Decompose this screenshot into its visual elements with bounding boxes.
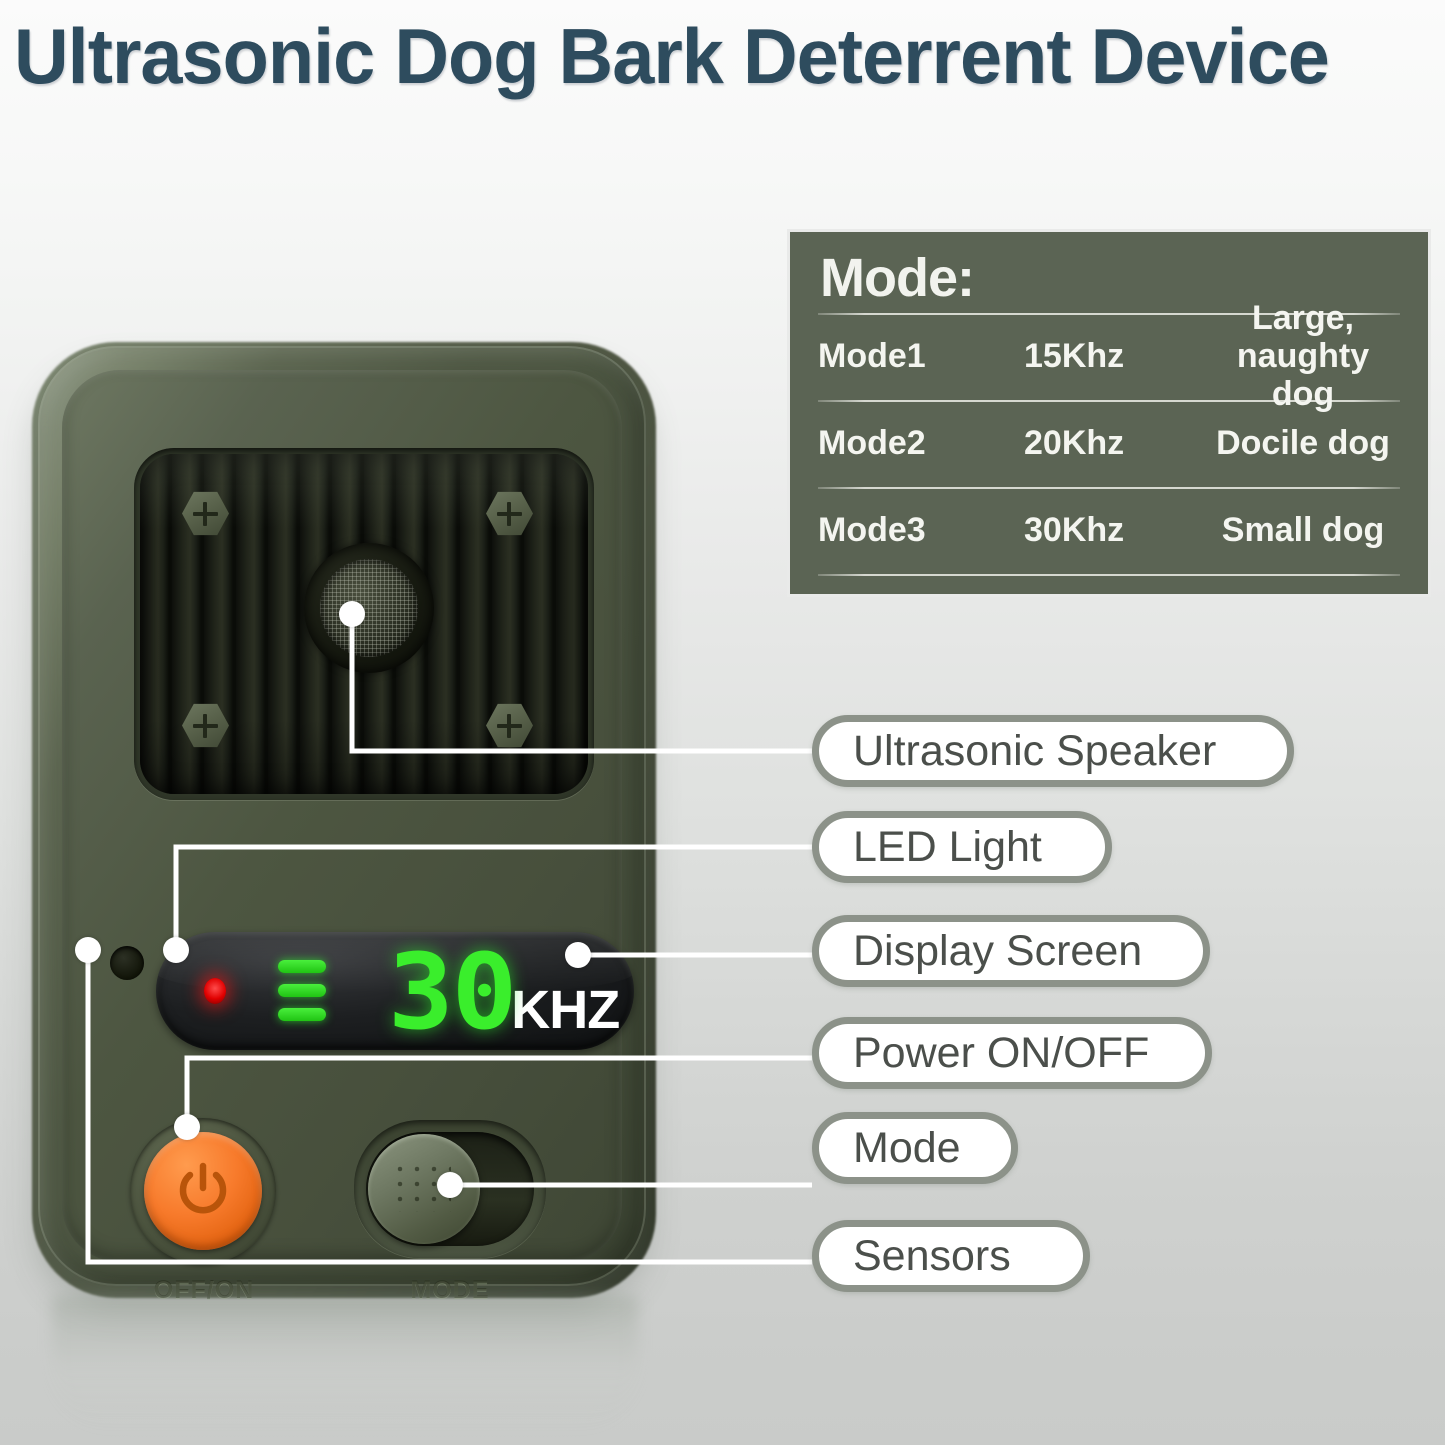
callout-label: LED Light <box>853 824 1042 870</box>
display-screen: 30 KHZ <box>156 932 634 1050</box>
speaker-mesh <box>320 559 418 657</box>
callout-label: Mode <box>853 1125 961 1171</box>
frequency-unit: KHZ <box>511 962 619 1050</box>
leader-dot-ultrasonic-speaker <box>339 601 365 627</box>
mode-target: Docile dog <box>1206 424 1400 462</box>
mode-table-divider <box>818 574 1400 576</box>
led-light <box>204 978 226 1004</box>
mode-frequency: 30Khz <box>1024 511 1206 549</box>
power-button[interactable] <box>144 1132 262 1250</box>
callout-led-light[interactable]: LED Light <box>812 811 1112 883</box>
mode-frequency: 20Khz <box>1024 424 1206 462</box>
table-row: Mode2 20Khz Docile dog <box>818 402 1400 484</box>
callout-label: Display Screen <box>853 928 1142 974</box>
mode-target: Small dog <box>1206 511 1400 549</box>
callout-label: Power ON/OFF <box>853 1030 1149 1076</box>
frequency-value: 30 <box>388 944 515 1040</box>
callout-ultrasonic-speaker[interactable]: Ultrasonic Speaker <box>812 715 1294 787</box>
power-icon <box>174 1162 232 1220</box>
table-row: Mode1 15Khz Large,naughty dog <box>818 315 1400 397</box>
signal-bar-icon <box>278 984 326 997</box>
mode-name: Mode3 <box>818 511 1024 549</box>
device-faceplate: 30 KHZ OFF/ON <box>62 370 622 1262</box>
leader-dot-led-light <box>163 937 189 963</box>
power-button-bezel <box>130 1118 276 1264</box>
device-reflection <box>52 1296 638 1432</box>
mode-frequency: 15Khz <box>1024 337 1206 375</box>
callout-power-on-off[interactable]: Power ON/OFF <box>812 1017 1212 1089</box>
speaker-grille-recess <box>134 448 594 800</box>
mode-name: Mode2 <box>818 424 1024 462</box>
leader-dot-mode <box>437 1172 463 1198</box>
sensor <box>110 946 144 980</box>
mode-name: Mode1 <box>818 337 1024 375</box>
mode-switch-thumb[interactable] <box>368 1134 480 1244</box>
device-photo: 30 KHZ OFF/ON <box>28 336 668 1306</box>
mode-target: Large,naughty dog <box>1206 299 1400 413</box>
callout-label: Ultrasonic Speaker <box>853 728 1216 774</box>
product-infographic: Ultrasonic Dog Bark Deterrent Device Mod… <box>0 0 1445 1445</box>
callout-label: Sensors <box>853 1233 1011 1279</box>
device-body: 30 KHZ OFF/ON <box>38 346 646 1286</box>
mode-table: Mode: Mode1 15Khz Large,naughty dog Mode… <box>790 232 1428 594</box>
leader-dot-sensors <box>75 937 101 963</box>
callout-sensors[interactable]: Sensors <box>812 1220 1090 1292</box>
leader-dot-power <box>174 1114 200 1140</box>
leader-dot-display-screen <box>565 942 591 968</box>
callout-mode[interactable]: Mode <box>812 1112 1018 1184</box>
callout-display-screen[interactable]: Display Screen <box>812 915 1210 987</box>
signal-bar-icon <box>278 960 326 973</box>
ultrasonic-speaker <box>304 543 434 673</box>
signal-bar-icon <box>278 1008 326 1021</box>
table-row: Mode3 30Khz Small dog <box>818 489 1400 571</box>
page-title: Ultrasonic Dog Bark Deterrent Device <box>14 10 1391 102</box>
